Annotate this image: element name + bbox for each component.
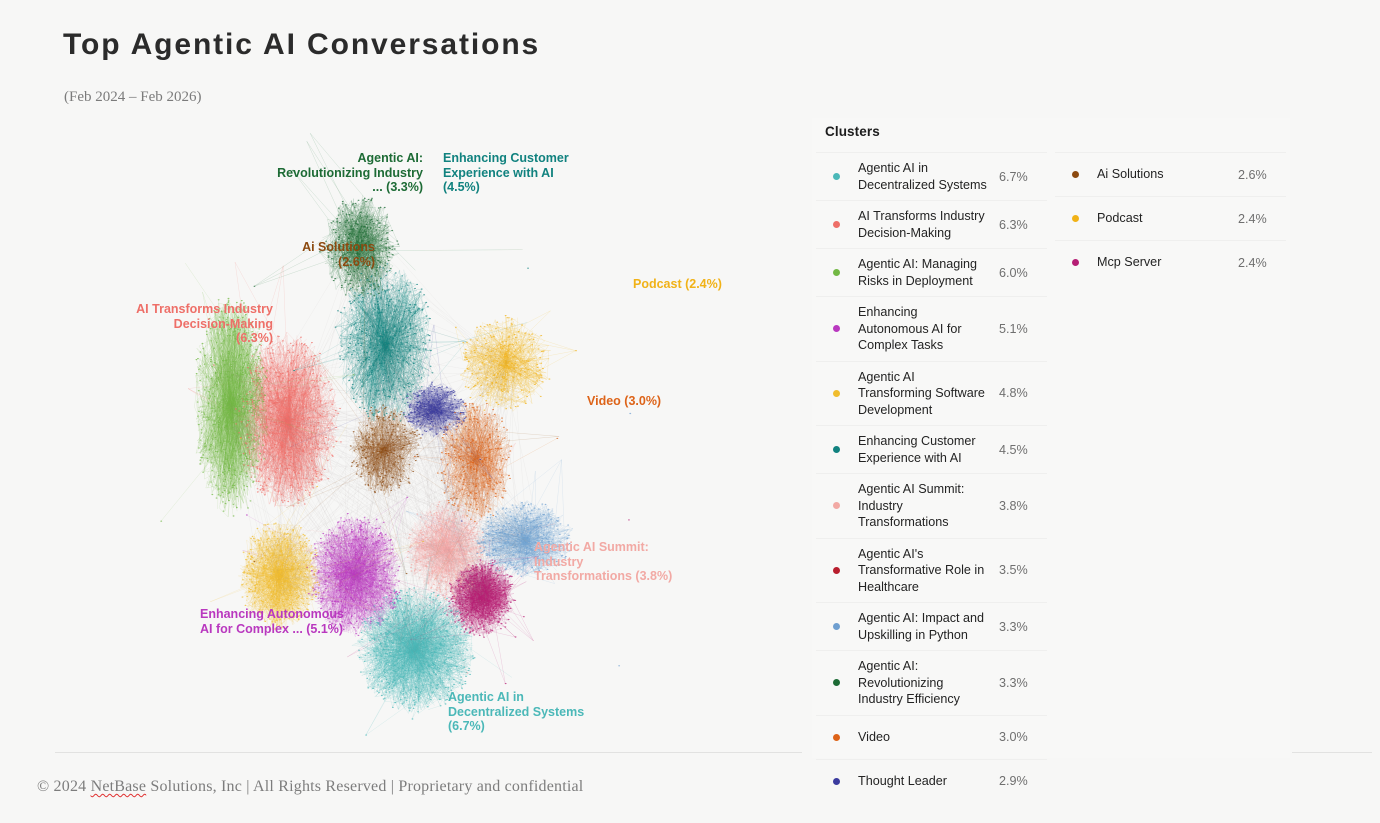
legend-column-secondary: Ai Solutions2.6%Podcast2.4%Mcp Server2.4… bbox=[1055, 152, 1286, 284]
cluster-color-dot-icon bbox=[833, 446, 840, 453]
slide-root: Top Agentic AI Conversations (Feb 2024 –… bbox=[0, 0, 1380, 823]
legend-item-value: 2.6% bbox=[1238, 168, 1286, 182]
legend-row[interactable]: Podcast2.4% bbox=[1055, 196, 1286, 240]
footer-divider-right bbox=[1292, 752, 1372, 753]
date-range-subtitle: (Feb 2024 – Feb 2026) bbox=[64, 89, 202, 106]
legend-column-primary: Agentic AI in Decentralized Systems6.7%A… bbox=[816, 152, 1047, 803]
legend-row[interactable]: Agentic AI Summit: Industry Transformati… bbox=[816, 473, 1047, 538]
legend-item-label: Agentic AI's Transformative Role in Heal… bbox=[858, 546, 999, 596]
legend-row[interactable]: AI Transforms Industry Decision-Making6.… bbox=[816, 200, 1047, 248]
legend-item-label: Mcp Server bbox=[1097, 254, 1238, 271]
cluster-color-dot-icon bbox=[1072, 215, 1079, 222]
cluster-color-dot-icon bbox=[833, 269, 840, 276]
legend-item-value: 2.9% bbox=[999, 774, 1047, 788]
legend-row[interactable]: Agentic AI: Managing Risks in Deployment… bbox=[816, 248, 1047, 296]
legend-row[interactable]: Agentic AI Transforming Software Develop… bbox=[816, 361, 1047, 426]
legend-item-label: Thought Leader bbox=[858, 773, 999, 790]
legend-item-label: Agentic AI: Managing Risks in Deployment bbox=[858, 256, 999, 289]
cluster-color-dot-icon bbox=[833, 623, 840, 630]
legend-row[interactable]: Enhancing Autonomous AI for Complex Task… bbox=[816, 296, 1047, 361]
cluster-color-dot-icon bbox=[833, 173, 840, 180]
clusters-legend-panel: Clusters Agentic AI in Decentralized Sys… bbox=[812, 118, 1290, 758]
legend-item-value: 4.5% bbox=[999, 443, 1047, 457]
legend-item-value: 2.4% bbox=[1238, 212, 1286, 226]
legend-item-label: Agentic AI: Impact and Upskilling in Pyt… bbox=[858, 610, 999, 643]
legend-row[interactable]: Agentic AI's Transformative Role in Heal… bbox=[816, 538, 1047, 603]
legend-row[interactable]: Mcp Server2.4% bbox=[1055, 240, 1286, 284]
cluster-color-dot-icon bbox=[833, 679, 840, 686]
cluster-color-dot-icon bbox=[833, 734, 840, 741]
footer-copyright: © 2024 NetBase Solutions, Inc | All Righ… bbox=[37, 778, 583, 796]
legend-item-value: 6.3% bbox=[999, 218, 1047, 232]
legend-item-label: Agentic AI Summit: Industry Transformati… bbox=[858, 481, 999, 531]
cluster-color-dot-icon bbox=[833, 502, 840, 509]
legend-row[interactable]: Enhancing Customer Experience with AI4.5… bbox=[816, 425, 1047, 473]
legend-row[interactable]: Agentic AI: Impact and Upskilling in Pyt… bbox=[816, 602, 1047, 650]
cluster-color-dot-icon bbox=[1072, 259, 1079, 266]
legend-item-label: Enhancing Autonomous AI for Complex Task… bbox=[858, 304, 999, 354]
legend-row[interactable]: Agentic AI in Decentralized Systems6.7% bbox=[816, 152, 1047, 200]
footer-divider-left bbox=[55, 752, 802, 753]
legend-item-value: 2.4% bbox=[1238, 256, 1286, 270]
legend-item-value: 3.8% bbox=[999, 499, 1047, 513]
legend-item-value: 4.8% bbox=[999, 386, 1047, 400]
legend-item-label: Agentic AI in Decentralized Systems bbox=[858, 160, 999, 193]
legend-item-value: 6.0% bbox=[999, 266, 1047, 280]
legend-item-value: 3.3% bbox=[999, 676, 1047, 690]
legend-item-label: Podcast bbox=[1097, 210, 1238, 227]
page-title: Top Agentic AI Conversations bbox=[63, 28, 540, 62]
legend-item-value: 6.7% bbox=[999, 170, 1047, 184]
cluster-color-dot-icon bbox=[833, 778, 840, 785]
cluster-color-dot-icon bbox=[833, 325, 840, 332]
legend-item-label: Video bbox=[858, 729, 999, 746]
legend-row[interactable]: Thought Leader2.9% bbox=[816, 759, 1047, 803]
legend-item-label: Agentic AI Transforming Software Develop… bbox=[858, 369, 999, 419]
legend-item-value: 3.0% bbox=[999, 730, 1047, 744]
legend-item-label: Ai Solutions bbox=[1097, 166, 1238, 183]
cluster-color-dot-icon bbox=[1072, 171, 1079, 178]
legend-row[interactable]: Video3.0% bbox=[816, 715, 1047, 759]
cluster-network-chart[interactable]: Agentic AI: Revolutionizing Industry ...… bbox=[55, 120, 800, 745]
legend-item-label: AI Transforms Industry Decision-Making bbox=[858, 208, 999, 241]
legend-item-value: 5.1% bbox=[999, 322, 1047, 336]
footer-prefix: © 2024 bbox=[37, 778, 91, 795]
legend-item-label: Enhancing Customer Experience with AI bbox=[858, 433, 999, 466]
legend-row[interactable]: Agentic AI: Revolutionizing Industry Eff… bbox=[816, 650, 1047, 715]
legend-item-value: 3.5% bbox=[999, 563, 1047, 577]
legend-title: Clusters bbox=[825, 124, 880, 139]
cluster-color-dot-icon bbox=[833, 221, 840, 228]
legend-item-value: 3.3% bbox=[999, 620, 1047, 634]
cluster-color-dot-icon bbox=[833, 567, 840, 574]
footer-suffix: Solutions, Inc | All Rights Reserved | P… bbox=[146, 778, 583, 795]
legend-item-label: Agentic AI: Revolutionizing Industry Eff… bbox=[858, 658, 999, 708]
legend-row[interactable]: Ai Solutions2.6% bbox=[1055, 152, 1286, 196]
network-graph-svg bbox=[55, 120, 800, 745]
footer-brand: NetBase bbox=[91, 778, 147, 795]
cluster-color-dot-icon bbox=[833, 390, 840, 397]
